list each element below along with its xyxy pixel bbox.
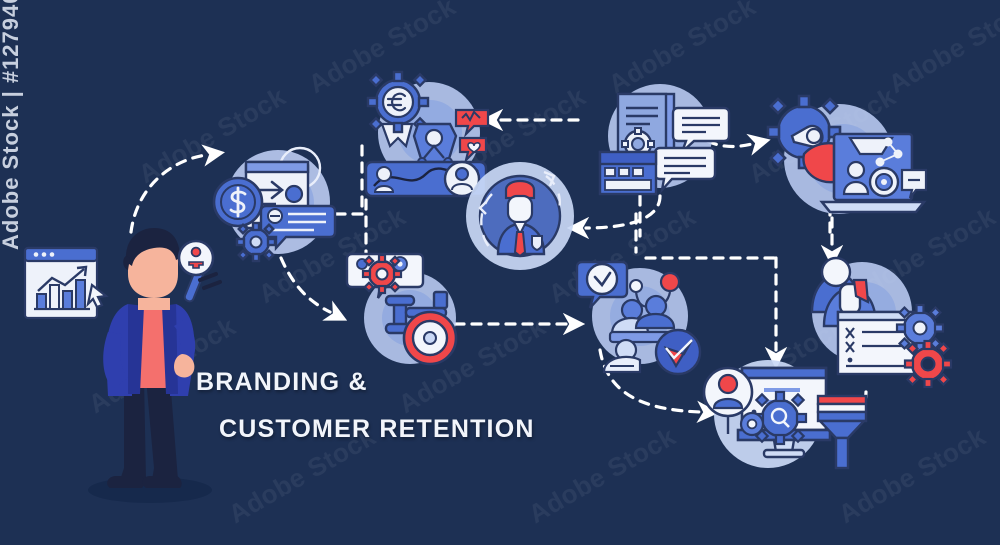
adobe-stock-watermark-label: Adobe Stock | #1279401440	[0, 0, 24, 250]
monitor-gear-icon	[738, 368, 830, 457]
heart-chat-icon	[456, 110, 488, 134]
valve-gauge-icon	[386, 292, 456, 364]
watermark-tile: Adobe Stock	[833, 421, 991, 530]
watermark-tile: Adobe Stock	[883, 0, 1000, 100]
shield-icon	[532, 236, 542, 250]
laptop-network-icon	[822, 134, 926, 212]
arrow-character-to-monetization	[131, 155, 206, 232]
gear-icon	[897, 305, 943, 351]
speech-bubble-icon-bottom	[655, 148, 715, 190]
red-check-badge-icon	[656, 330, 700, 374]
red-gear-icon	[905, 341, 951, 387]
gear-chat-icon	[347, 254, 423, 298]
illustration-canvas: Adobe StockAdobe StockAdobe StockAdobe S…	[0, 0, 1000, 545]
browser-window-icon	[600, 152, 656, 194]
target-icon	[870, 168, 898, 196]
watermark-tile: Adobe Stock	[523, 421, 681, 530]
page-title-line2: CUSTOMER RETENTION	[219, 415, 535, 444]
red-gear-icon	[363, 255, 401, 293]
speech-bubble-icon-top	[673, 108, 729, 152]
network-share-icon	[414, 124, 456, 166]
page-title-line1: BRANDING &	[196, 368, 368, 397]
clock-check-icon	[577, 262, 627, 308]
gear-icon	[237, 223, 275, 261]
